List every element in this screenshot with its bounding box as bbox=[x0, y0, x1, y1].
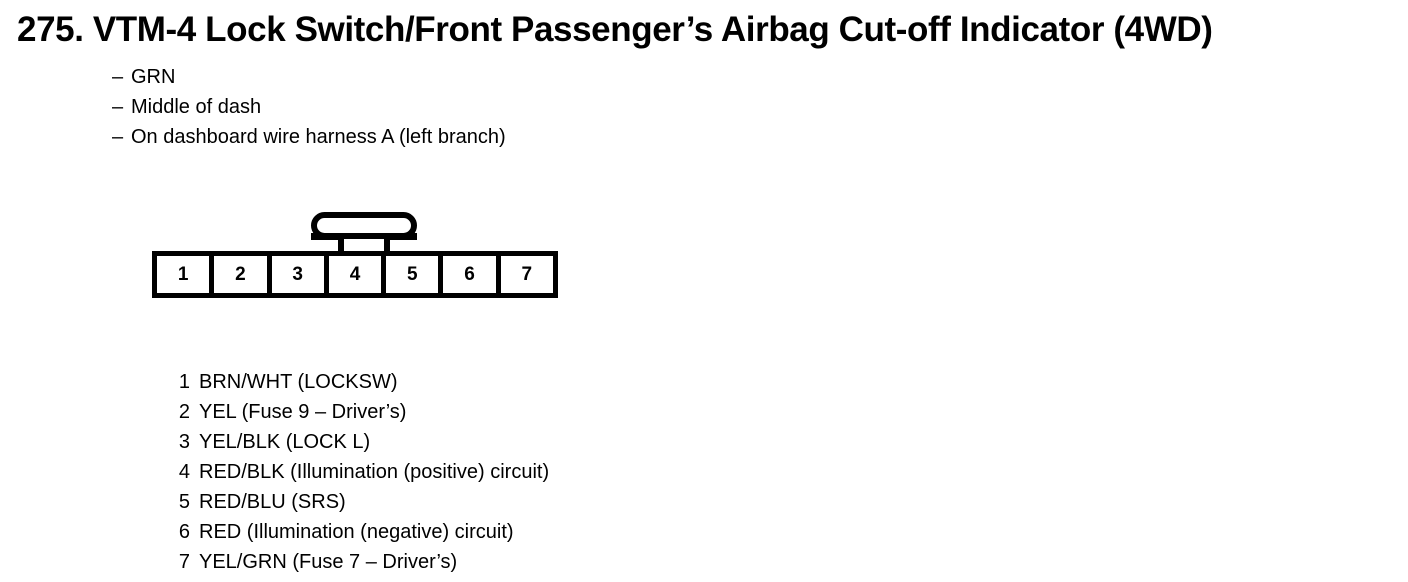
legend-pin-description: BRN/WHT (LOCKSW) bbox=[190, 367, 398, 397]
connector-pin-6: 6 bbox=[443, 256, 495, 293]
legend-row: 6 RED (Illumination (negative) circuit) bbox=[166, 517, 549, 547]
legend-row: 3 YEL/BLK (LOCK L) bbox=[166, 427, 549, 457]
legend-pin-number: 1 bbox=[166, 367, 190, 397]
legend-row: 7 YEL/GRN (Fuse 7 – Driver’s) bbox=[166, 547, 549, 577]
connector-diagram: 1 2 3 4 5 6 7 bbox=[152, 212, 562, 302]
connector-pin-2: 2 bbox=[214, 256, 266, 293]
legend-pin-number: 2 bbox=[166, 397, 190, 427]
legend-row: 4 RED/BLK (Illumination (positive) circu… bbox=[166, 457, 549, 487]
note-text: Middle of dash bbox=[131, 92, 261, 122]
legend-pin-number: 7 bbox=[166, 547, 190, 577]
note-item: – Middle of dash bbox=[112, 92, 506, 122]
legend-pin-number: 4 bbox=[166, 457, 190, 487]
legend-pin-description: YEL/BLK (LOCK L) bbox=[190, 427, 370, 457]
legend-row: 2 YEL (Fuse 9 – Driver’s) bbox=[166, 397, 549, 427]
connector-latch-tab-icon bbox=[311, 212, 417, 252]
pin-legend-list: 1 BRN/WHT (LOCKSW) 2 YEL (Fuse 9 – Drive… bbox=[166, 367, 549, 577]
page-title: 275. VTM-4 Lock Switch/Front Passenger’s… bbox=[17, 9, 1212, 51]
note-text: GRN bbox=[131, 62, 175, 92]
legend-pin-description: RED/BLU (SRS) bbox=[190, 487, 346, 517]
legend-pin-number: 5 bbox=[166, 487, 190, 517]
connector-notes-list: – GRN – Middle of dash – On dashboard wi… bbox=[112, 62, 506, 152]
connector-pin-7: 7 bbox=[501, 256, 553, 293]
connector-pin-4: 4 bbox=[329, 256, 381, 293]
legend-pin-number: 3 bbox=[166, 427, 190, 457]
legend-row: 1 BRN/WHT (LOCKSW) bbox=[166, 367, 549, 397]
note-item: – On dashboard wire harness A (left bran… bbox=[112, 122, 506, 152]
connector-pin-3: 3 bbox=[272, 256, 324, 293]
legend-pin-number: 6 bbox=[166, 517, 190, 547]
legend-row: 5 RED/BLU (SRS) bbox=[166, 487, 549, 517]
note-item: – GRN bbox=[112, 62, 506, 92]
en-dash-icon: – bbox=[112, 92, 131, 122]
en-dash-icon: – bbox=[112, 122, 131, 152]
legend-pin-description: RED (Illumination (negative) circuit) bbox=[190, 517, 514, 547]
legend-pin-description: RED/BLK (Illumination (positive) circuit… bbox=[190, 457, 549, 487]
legend-pin-description: YEL/GRN (Fuse 7 – Driver’s) bbox=[190, 547, 457, 577]
en-dash-icon: – bbox=[112, 62, 131, 92]
connector-pin-5: 5 bbox=[386, 256, 438, 293]
connector-pin-row: 1 2 3 4 5 6 7 bbox=[152, 251, 558, 298]
connector-pin-1: 1 bbox=[157, 256, 209, 293]
note-text: On dashboard wire harness A (left branch… bbox=[131, 122, 506, 152]
legend-pin-description: YEL (Fuse 9 – Driver’s) bbox=[190, 397, 406, 427]
